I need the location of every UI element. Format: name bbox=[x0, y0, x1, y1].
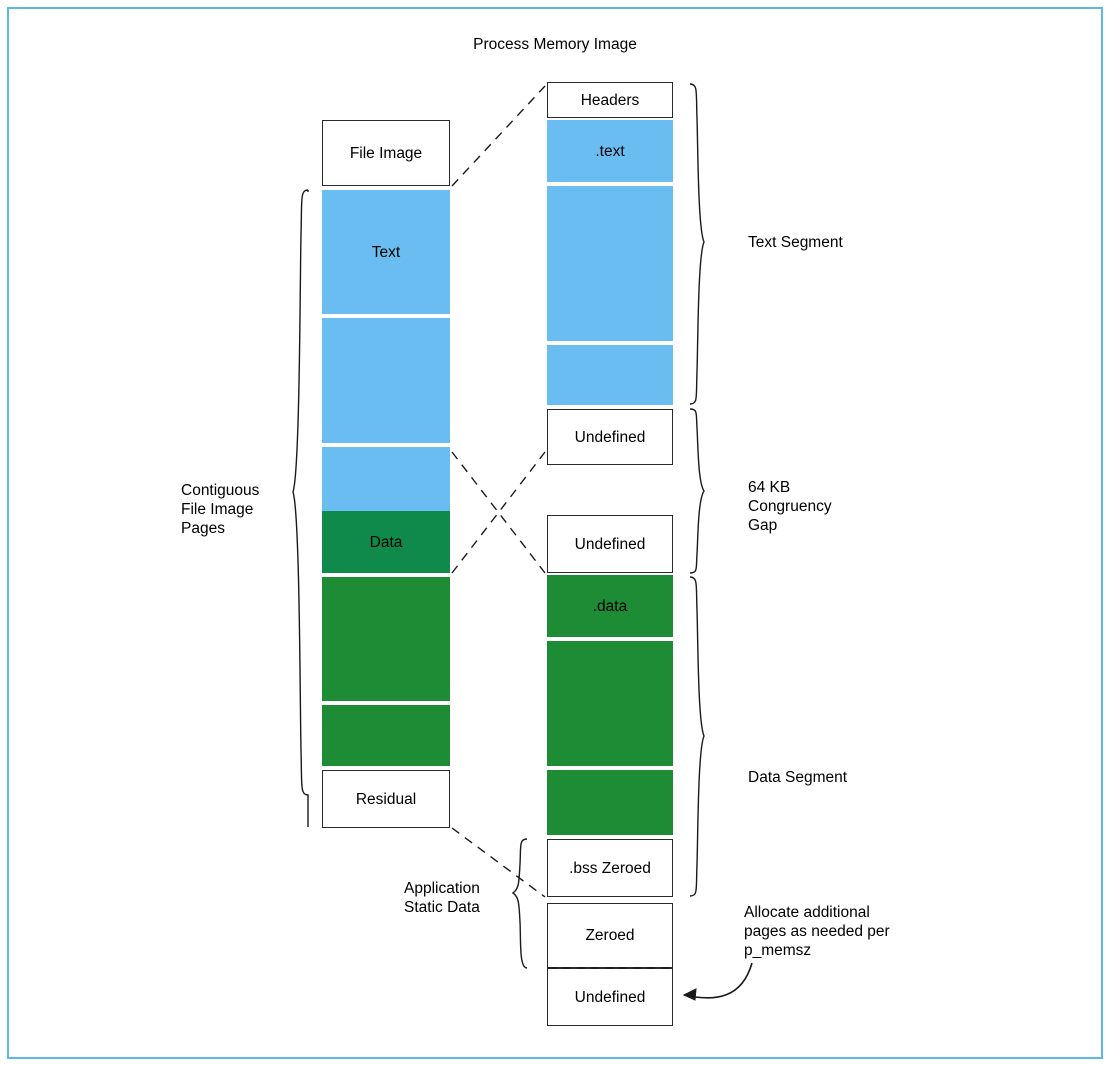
right-block-bss-zeroed: .bss Zeroed bbox=[547, 839, 673, 897]
annotation-congruency-gap: 64 KB Congruency Gap bbox=[748, 478, 898, 535]
right-block-undefined-tail: Undefined bbox=[547, 968, 673, 1026]
left-block-data: Data bbox=[322, 511, 450, 573]
right-block-zeroed: Zeroed bbox=[547, 903, 673, 968]
right-block-data-section-label: .data bbox=[593, 597, 627, 616]
annotation-contiguous-file-image-pages: Contiguous File Image Pages bbox=[181, 481, 311, 538]
left-block-text-page-3 bbox=[322, 447, 450, 511]
left-block-data-label: Data bbox=[370, 533, 403, 552]
left-block-residual: Residual bbox=[322, 770, 450, 828]
right-block-undefined-text: Undefined bbox=[547, 409, 673, 465]
right-block-undefined-data-label: Undefined bbox=[575, 535, 646, 554]
left-block-residual-label: Residual bbox=[356, 790, 416, 809]
left-block-data-page-3 bbox=[322, 705, 450, 766]
left-block-text-page-2 bbox=[322, 318, 450, 443]
right-block-headers: Headers bbox=[547, 82, 673, 118]
right-block-zeroed-label: Zeroed bbox=[585, 926, 634, 945]
annotation-data-segment: Data Segment bbox=[748, 768, 908, 787]
right-block-text-page-2 bbox=[547, 186, 673, 341]
right-block-text-section-label: .text bbox=[595, 142, 624, 161]
annotation-application-static-data: Application Static Data bbox=[404, 879, 524, 917]
right-block-undefined-tail-label: Undefined bbox=[575, 988, 646, 1007]
right-block-data-page-2 bbox=[547, 641, 673, 766]
left-block-text: Text bbox=[322, 190, 450, 314]
right-block-undefined-text-label: Undefined bbox=[575, 428, 646, 447]
page-title: Process Memory Image bbox=[0, 36, 1110, 54]
right-block-bss-zeroed-label: .bss Zeroed bbox=[569, 859, 651, 878]
annotation-allocate-note: Allocate additional pages as needed per … bbox=[744, 903, 944, 960]
right-block-text-section: .text bbox=[547, 120, 673, 182]
annotation-text-segment: Text Segment bbox=[748, 233, 898, 252]
right-block-headers-label: Headers bbox=[581, 91, 640, 110]
left-block-text-label: Text bbox=[372, 243, 400, 262]
right-block-data-section: .data bbox=[547, 575, 673, 637]
diagram-page: Process Memory Image File Image Text Dat… bbox=[0, 0, 1110, 1066]
left-block-data-page-2 bbox=[322, 577, 450, 701]
left-block-file-image-label: File Image bbox=[350, 144, 422, 163]
right-block-data-page-3 bbox=[547, 770, 673, 835]
right-block-text-page-3 bbox=[547, 345, 673, 405]
right-block-undefined-data: Undefined bbox=[547, 515, 673, 573]
left-block-file-image: File Image bbox=[322, 120, 450, 186]
